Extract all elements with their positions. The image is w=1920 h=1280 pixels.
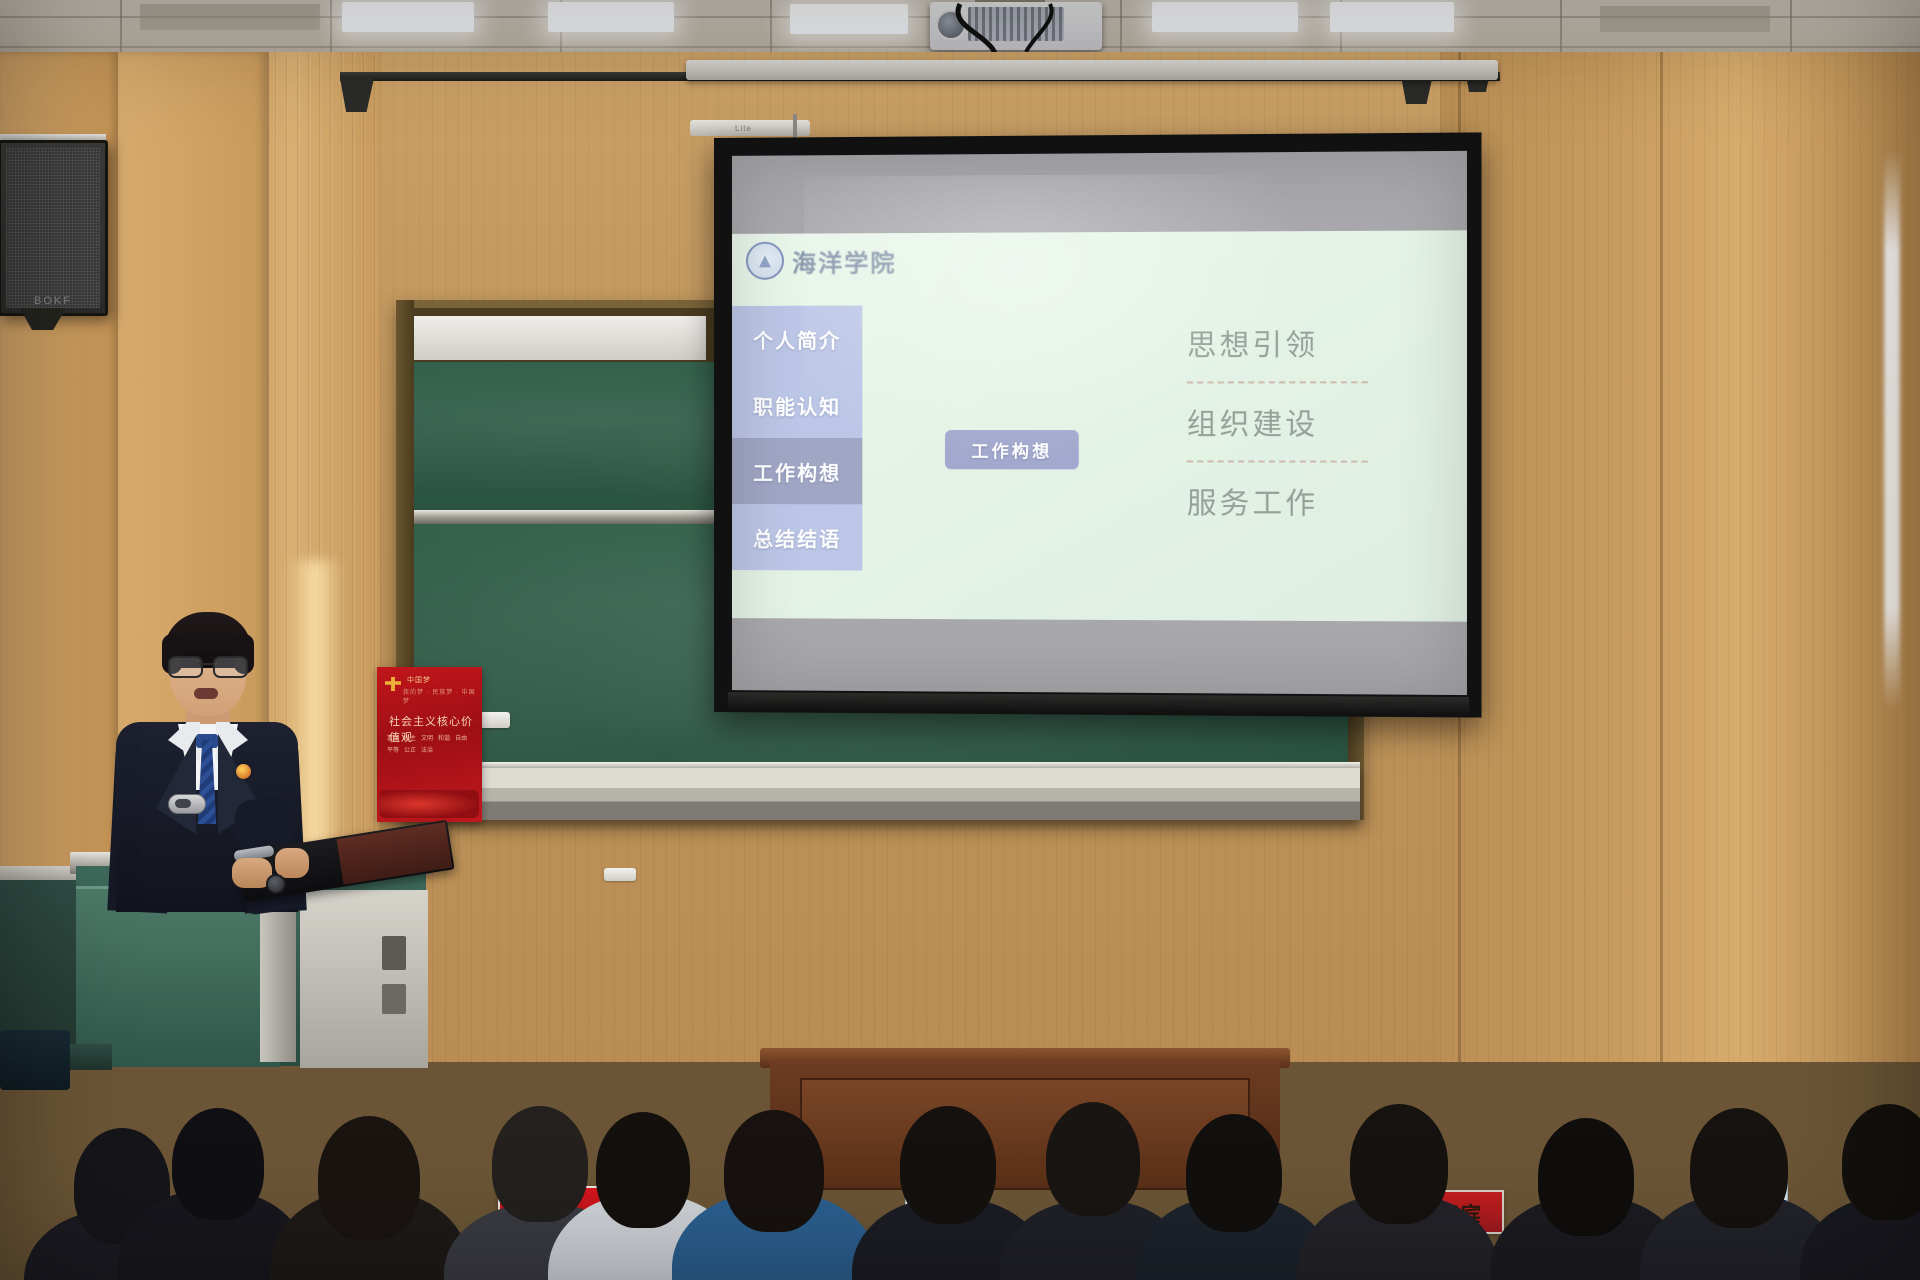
audience-head	[492, 1106, 588, 1222]
clip-microphone-icon	[168, 794, 206, 814]
ceiling-light	[1152, 2, 1298, 32]
slide-nav-item-3-active: 工作构想	[732, 438, 862, 504]
chalkboard-tray	[400, 768, 1360, 820]
presentation-slide: 海洋学院 个人简介 职能认知 工作构想 总结结语 工作构想 思想引领 组织建设 …	[732, 230, 1467, 621]
wall-light-strip	[1884, 150, 1900, 710]
ceiling-light	[790, 4, 908, 34]
slide-section-nav: 个人简介 职能认知 工作构想 总结结语	[732, 306, 862, 571]
poster-word: 法治	[421, 745, 433, 754]
speaker-brand-label: BOKF	[1, 295, 105, 307]
wall-speaker: BOKF	[0, 140, 108, 316]
ceiling-light	[548, 2, 674, 32]
presenter-mouth	[194, 688, 218, 699]
ceiling-light	[342, 2, 474, 32]
ocean-college-crest-icon	[746, 242, 784, 280]
audience-head	[172, 1108, 264, 1220]
audience-head	[724, 1110, 824, 1232]
poster-word: 和谐	[438, 733, 450, 742]
speaker-grill	[6, 148, 100, 308]
ceiling-projector	[930, 2, 1102, 50]
slide-right-item-1: 思想引领	[1187, 304, 1413, 382]
wristwatch-icon	[266, 874, 286, 894]
audience	[0, 1030, 1920, 1280]
audience-head	[1046, 1102, 1140, 1216]
lecture-hall-scene: BOKF Lite 海洋学院 个人简介 职能认	[0, 0, 1920, 1280]
poster-decorative-graphic	[379, 790, 479, 818]
ceiling-panel-dark	[1600, 6, 1770, 32]
audience-head	[1842, 1104, 1920, 1220]
audience-head	[1538, 1118, 1634, 1236]
audience-head	[1690, 1108, 1788, 1228]
poster-subline: 我的梦 · 民族梦 · 中国梦	[403, 687, 482, 705]
slide-center-pill: 工作构想	[945, 430, 1079, 469]
slide-nav-item-4: 总结结语	[732, 504, 862, 571]
poster-word: 富强	[387, 733, 399, 742]
projection-screen-roller	[686, 60, 1498, 80]
poster-word: 公正	[404, 745, 416, 754]
poster-headline: 中国梦	[407, 675, 431, 685]
slide-right-item-2: 组织建设	[1187, 383, 1413, 460]
projection-screen: 海洋学院 个人简介 职能认知 工作构想 总结结语 工作构想 思想引领 组织建设 …	[714, 132, 1482, 717]
slide-right-list: 思想引领 组织建设 服务工作	[1187, 304, 1413, 540]
poster-value-words: 富强 民主 文明 和谐 自由 平等 公正 法治	[387, 733, 473, 754]
audience-head	[318, 1116, 420, 1240]
eyeglasses-icon	[168, 656, 248, 674]
slide-logo: 海洋学院	[746, 241, 897, 280]
propaganda-poster: 中国梦 我的梦 · 民族梦 · 中国梦 社会主义核心价值观 富强 民主 文明 和…	[377, 667, 482, 822]
wall-right	[1440, 52, 1920, 1062]
screen-roller-label: Lite	[735, 124, 752, 133]
wall-seam	[1660, 52, 1663, 1062]
audience-head	[1350, 1104, 1448, 1224]
screen-bottom-weight-bar	[728, 692, 1469, 715]
projection-surface: 海洋学院 个人简介 职能认知 工作构想 总结结语 工作构想 思想引领 组织建设 …	[732, 151, 1467, 695]
lapel-badge-icon	[236, 764, 251, 779]
poster-word: 自由	[455, 733, 467, 742]
slide-top-band	[732, 151, 1467, 234]
poster-word: 民主	[404, 733, 416, 742]
presenter-hand-right	[275, 848, 309, 878]
party-emblem-icon	[385, 677, 401, 691]
slide-nav-item-2: 职能认知	[732, 372, 862, 438]
screen-roller-hook	[793, 114, 797, 140]
equipment-cabinet-slot	[382, 984, 406, 1014]
ceiling-panel-dark	[140, 4, 320, 30]
audience-head	[900, 1106, 996, 1224]
poster-word: 平等	[387, 745, 399, 754]
slide-institution-name: 海洋学院	[792, 243, 897, 279]
chalkboard-whiteboard-strip	[414, 316, 706, 360]
presenter	[112, 612, 302, 912]
audience-head	[1186, 1114, 1282, 1232]
poster-word: 文明	[421, 733, 433, 742]
ceiling-light	[1330, 2, 1454, 32]
chalk-piece	[604, 868, 636, 881]
equipment-cabinet-slot	[382, 936, 406, 970]
slide-bottom-band	[732, 618, 1467, 695]
audience-head	[596, 1112, 690, 1228]
slide-right-item-3: 服务工作	[1187, 462, 1413, 540]
slide-nav-item-1: 个人简介	[732, 306, 862, 372]
slide-center-title: 工作构想	[945, 430, 1079, 469]
